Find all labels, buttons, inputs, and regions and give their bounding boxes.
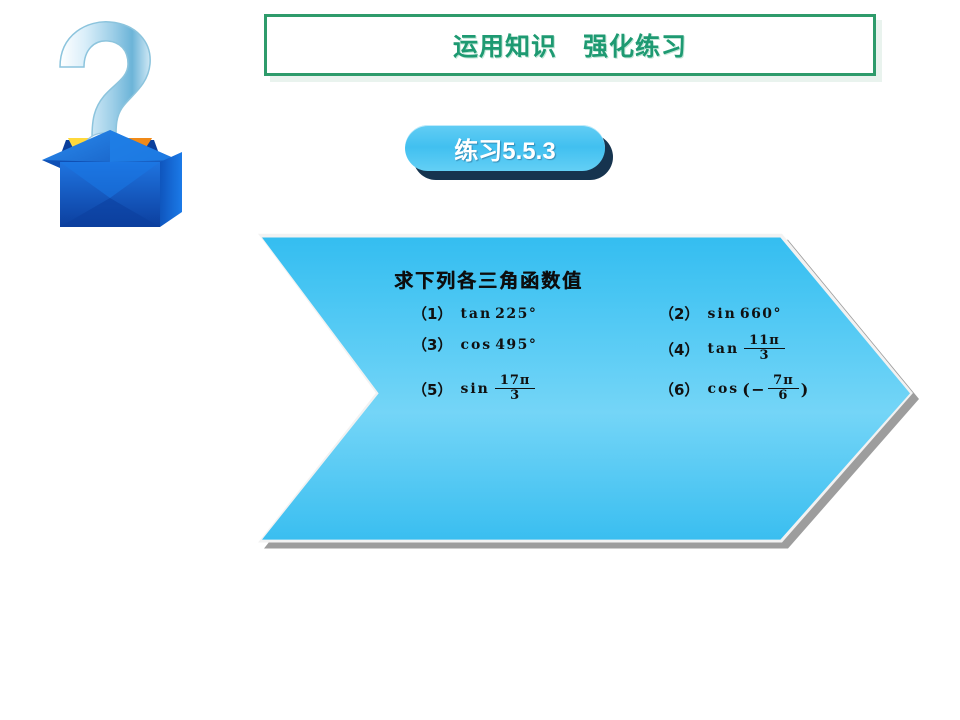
question-mark-glyph [60,22,150,138]
badge-pill: 练习5.5.3 [405,125,605,171]
box-side [160,152,182,227]
question-number: （4） [659,339,699,360]
fraction-denominator: 3 [759,349,769,364]
function-argument: 495° [495,337,537,353]
fraction: 11π 3 [744,334,785,364]
question-expression: cos 495° [460,337,537,353]
question-expression: sin 660° [707,306,782,322]
question-number: （1） [412,303,452,324]
question-item-5: （5） sin 17π 3 [394,374,647,404]
question-row: （5） sin 17π 3 （6） cos (− [394,374,894,404]
question-item-6: （6） cos (− 7π 6 ) [647,374,894,404]
badge-label: 练习5.5.3 [454,131,555,166]
fraction-numerator: 17π [495,374,536,388]
function-argument: 225° [495,306,537,322]
question-number: （3） [412,334,452,355]
question-number: （6） [659,379,699,400]
function-name: sin [460,381,489,397]
question-heading: 求下列各三角函数值 [394,266,894,293]
question-expression: sin 17π 3 [460,374,537,404]
title-banner: 运用知识 强化练习 [264,14,876,76]
chevron-panel: 求下列各三角函数值 （1） tan 225° （2） sin 660° [252,218,922,558]
question-content: 求下列各三角函数值 （1） tan 225° （2） sin 660° [394,266,894,404]
question-expression: cos (− 7π 6 ) [707,374,809,404]
fraction: 7π 6 [768,374,799,404]
fraction-numerator: 11π [744,334,785,348]
function-name: sin [707,306,736,322]
function-name: tan [707,341,739,357]
question-number: （5） [412,379,452,400]
fraction-numerator: 7π [768,374,799,388]
function-name: cos [707,381,739,397]
question-row: （1） tan 225° （2） sin 660° [394,303,894,324]
function-name: cos [460,337,492,353]
open-paren: (− [742,380,766,399]
question-item-4: （4） tan 11π 3 [647,334,894,364]
question-item-1: （1） tan 225° [394,303,647,324]
question-item-2: （2） sin 660° [647,303,894,324]
title-text: 运用知识 强化练习 [453,27,687,63]
question-expression: tan 11π 3 [707,334,786,364]
question-number: （2） [659,303,699,324]
function-argument: 660° [740,306,782,322]
exercise-badge: 练习5.5.3 [405,125,620,185]
function-name: tan [460,306,492,322]
question-expression: tan 225° [460,306,537,322]
question-mark-box-clipart [30,12,190,252]
close-paren: ) [801,380,810,399]
fraction-denominator: 6 [778,389,788,404]
slide-canvas: 运用知识 强化练习 练习5.5.3 求下列各三角函数值 （1） tan 225° [0,0,960,720]
question-row: （3） cos 495° （4） tan 11π 3 [394,334,894,364]
fraction: 17π 3 [495,374,536,404]
question-item-3: （3） cos 495° [394,334,647,355]
fraction-denominator: 3 [510,389,520,404]
